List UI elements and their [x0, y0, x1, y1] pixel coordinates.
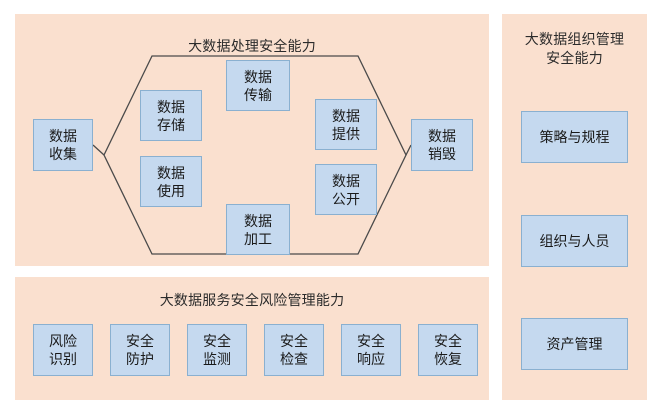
node-data-collection[interactable]: 数据 收集: [33, 119, 93, 171]
node-data-usage[interactable]: 数据 使用: [140, 156, 202, 207]
node-security-monitoring[interactable]: 安全 监测: [187, 324, 247, 376]
node-asset-management[interactable]: 资产管理: [521, 318, 628, 370]
panel-title-organization: 大数据组织管理 安全能力: [502, 30, 647, 68]
node-data-provision[interactable]: 数据 提供: [315, 99, 377, 150]
node-security-inspection[interactable]: 安全 检查: [264, 324, 324, 376]
panel-big-data-service-risk-management: 大数据服务安全风险管理能力 风险 识别 安全 防护 安全 监测 安全 检查 安全…: [15, 277, 489, 400]
panel-big-data-organization-management: 大数据组织管理 安全能力 策略与规程 组织与人员 资产管理: [502, 14, 647, 400]
node-risk-identification[interactable]: 风险 识别: [33, 324, 93, 376]
node-organization-and-personnel[interactable]: 组织与人员: [521, 215, 628, 267]
node-security-protection[interactable]: 安全 防护: [110, 324, 170, 376]
panel-title-service: 大数据服务安全风险管理能力: [15, 291, 489, 310]
panel-big-data-processing-security: 大数据处理安全能力 数据 收集 数据 存储 数据 使用 数据 传输 数据 加工 …: [15, 14, 489, 266]
node-data-storage[interactable]: 数据 存储: [140, 90, 202, 141]
connector-collect-to-hexagon: [93, 145, 104, 155]
node-security-recovery[interactable]: 安全 恢复: [418, 324, 478, 376]
diagram-canvas: 大数据处理安全能力 数据 收集 数据 存储 数据 使用 数据 传输 数据 加工 …: [0, 0, 662, 416]
node-data-destruction[interactable]: 数据 销毁: [411, 119, 473, 171]
panel-title-processing: 大数据处理安全能力: [15, 37, 489, 56]
node-data-processing[interactable]: 数据 加工: [226, 204, 290, 255]
node-policy-and-procedure[interactable]: 策略与规程: [521, 111, 628, 163]
node-data-disclosure[interactable]: 数据 公开: [315, 164, 377, 215]
node-data-transfer[interactable]: 数据 传输: [226, 60, 290, 111]
node-security-response[interactable]: 安全 响应: [341, 324, 401, 376]
